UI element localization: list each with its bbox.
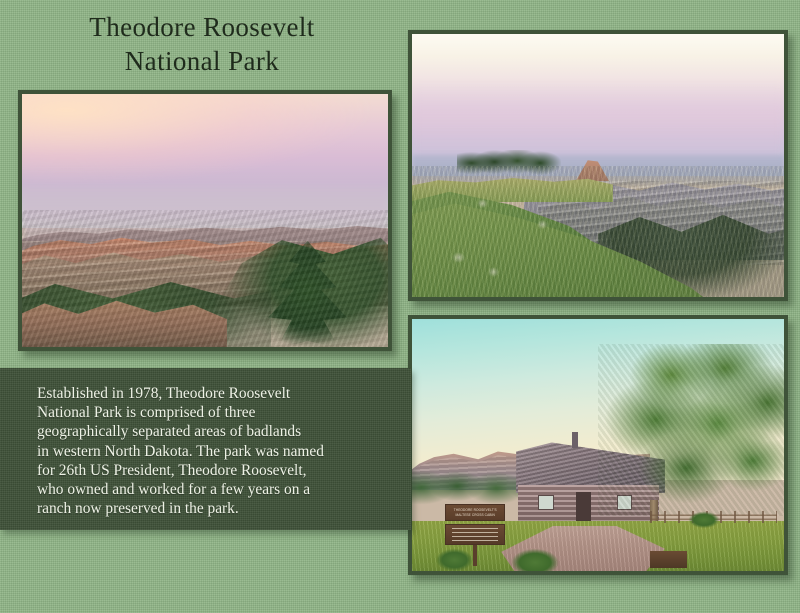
foreground-bush	[434, 548, 475, 571]
shrub	[687, 511, 720, 529]
sign-title-line-2: MALTESE CROSS CABIN	[446, 513, 504, 517]
terrain-texture	[22, 210, 388, 347]
chimney	[572, 432, 578, 447]
photo-badlands-sunset-canvas	[22, 94, 388, 347]
photo-badlands-sunset	[18, 90, 392, 351]
cabin-window-left	[538, 495, 554, 509]
photo-grassy-ridge	[408, 30, 788, 301]
tree-foliage-texture	[598, 344, 784, 515]
foreground-bush	[509, 548, 561, 571]
page-title: Theodore Roosevelt National Park	[12, 10, 392, 78]
sign-title-line-1: THEODORE ROOSEVELT'S	[446, 508, 504, 512]
interpretive-sign-body	[445, 524, 505, 544]
caption-text: Established in 1978, Theodore Roosevelt …	[37, 384, 397, 518]
caption-band: Established in 1978, Theodore Roosevelt …	[0, 368, 411, 530]
photo-maltese-cabin: THEODORE ROOSEVELT'S MALTESE CROSS CABIN	[408, 315, 788, 575]
poster-canvas: Theodore Roosevelt National Park	[0, 0, 800, 613]
grass-texture	[412, 166, 784, 298]
wooden-box	[650, 551, 687, 569]
sign-body-text-lines	[452, 528, 498, 540]
photo-maltese-cabin-canvas: THEODORE ROOSEVELT'S MALTESE CROSS CABIN	[412, 319, 784, 571]
photo-grassy-ridge-canvas	[412, 34, 784, 297]
interpretive-sign-header: THEODORE ROOSEVELT'S MALTESE CROSS CABIN	[445, 504, 505, 520]
cabin-door	[576, 492, 591, 522]
